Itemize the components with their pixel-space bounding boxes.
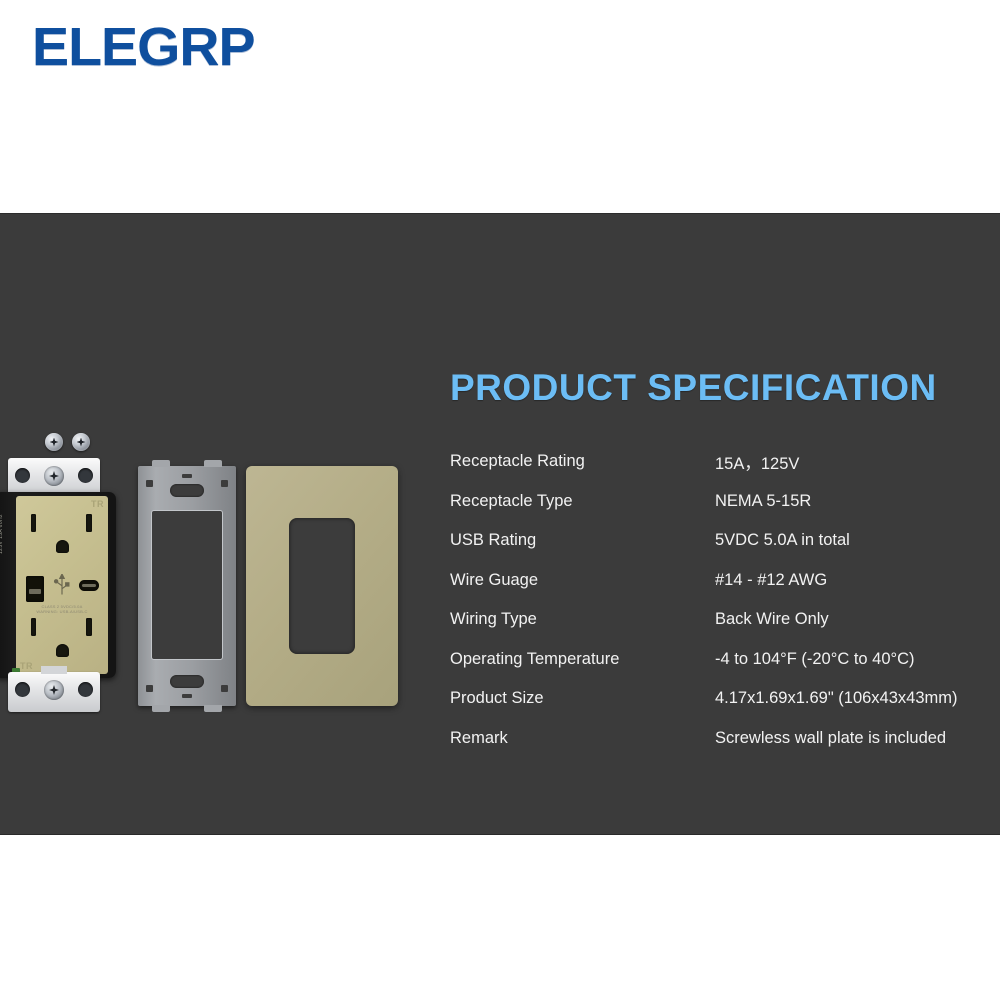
spec-value: 5VDC 5.0A in total — [715, 521, 970, 561]
usb-receptacle-outlet: 125V 15A 60Hz TR TR — [0, 474, 116, 696]
brand-header: ELEGRP — [0, 0, 1000, 213]
bracket-oval-slot — [170, 675, 204, 688]
bracket-square-hole — [221, 685, 228, 692]
bracket-tab — [204, 460, 222, 467]
mounting-screw-icon — [45, 433, 63, 451]
tamper-resistant-mark: TR — [20, 661, 33, 671]
spec-value: Back Wire Only — [715, 600, 970, 640]
product-spec-panel: 125V 15A 60Hz TR TR — [0, 213, 1000, 835]
bracket-square-hole — [221, 480, 228, 487]
bracket-tab — [152, 705, 170, 712]
bracket-window — [151, 510, 223, 660]
bracket-tab — [152, 460, 170, 467]
spec-label: USB Rating — [450, 521, 715, 561]
bracket-pin-slot — [182, 694, 192, 698]
mounting-bracket — [138, 466, 236, 706]
bracket-oval-slot — [170, 484, 204, 497]
table-row: USB Rating5VDC 5.0A in total — [450, 521, 970, 561]
specification-section: PRODUCT SPECIFICATION Receptacle Rating1… — [450, 369, 970, 758]
outlet-ground-pin — [56, 540, 69, 553]
table-row: Wiring Type Back Wire Only — [450, 600, 970, 640]
usb-a-port — [26, 576, 44, 602]
outlet-slot-hot — [86, 514, 92, 532]
table-row: RemarkScrewless wall plate is included — [450, 719, 970, 759]
bracket-pin-slot — [182, 474, 192, 478]
usb-trident-icon — [53, 574, 71, 596]
mounting-screw-icon — [72, 433, 90, 451]
spec-label: Remark — [450, 719, 715, 759]
bracket-tab — [204, 705, 222, 712]
table-row: Wire Guage#14 - #12 AWG — [450, 561, 970, 601]
spec-value: Screwless wall plate is included — [715, 719, 970, 759]
spec-label: Wire Guage — [450, 561, 715, 601]
receptacle-body: 125V 15A 60Hz TR TR — [0, 492, 116, 678]
spec-label: Receptacle Type — [450, 482, 715, 522]
spec-value: -4 to 104°F (-20°C to 40°C) — [715, 640, 970, 680]
yoke-screw-icon — [44, 680, 64, 700]
yoke-hole-icon — [78, 468, 93, 483]
spec-value: 4.17x1.69x1.69" (106x43x43mm) — [715, 679, 970, 719]
bracket-square-hole — [146, 685, 153, 692]
yoke-screw-icon — [44, 466, 64, 486]
yoke-hole-icon — [78, 682, 93, 697]
spec-value: #14 - #12 AWG — [715, 561, 970, 601]
product-image: 125V 15A 60Hz TR TR — [0, 214, 420, 835]
outlet-slot-hot — [86, 618, 92, 636]
receptacle-face: TR TR — [16, 496, 108, 674]
table-row: Receptacle Rating15A，125V — [450, 442, 970, 482]
spec-label: Product Size — [450, 679, 715, 719]
spec-label: Operating Temperature — [450, 640, 715, 680]
table-row: Receptacle TypeNEMA 5-15R — [450, 482, 970, 522]
bracket-square-hole — [146, 480, 153, 487]
tamper-resistant-mark: TR — [91, 499, 104, 509]
outlet-slot-neutral — [31, 514, 36, 532]
spec-value: 15A，125V — [715, 442, 970, 482]
usb-fine-print-line2: WARNING: USB-A/USB-C — [22, 609, 102, 615]
table-row: Operating Temperature-4 to 104°F (-20°C … — [450, 640, 970, 680]
yoke-notch — [41, 666, 67, 674]
spec-label: Receptacle Rating — [450, 442, 715, 482]
spec-value: NEMA 5-15R — [715, 482, 970, 522]
table-row: Product Size4.17x1.69x1.69" (106x43x43mm… — [450, 679, 970, 719]
page-title: PRODUCT SPECIFICATION — [450, 369, 970, 406]
yoke-hole-icon — [15, 468, 30, 483]
usb-c-port — [79, 580, 99, 591]
elegrp-logo: ELEGRP — [32, 20, 255, 74]
receptacle-yoke-bottom — [8, 672, 100, 712]
screwless-wall-plate — [246, 466, 398, 706]
spec-label: Wiring Type — [450, 600, 715, 640]
yoke-hole-icon — [15, 682, 30, 697]
wall-plate-opening — [289, 518, 355, 654]
outlet-ground-pin — [56, 644, 69, 657]
specification-table: Receptacle Rating15A，125VReceptacle Type… — [450, 442, 970, 758]
receptacle-side-marking: 125V 15A 60Hz — [0, 490, 4, 554]
outlet-slot-neutral — [31, 618, 36, 636]
